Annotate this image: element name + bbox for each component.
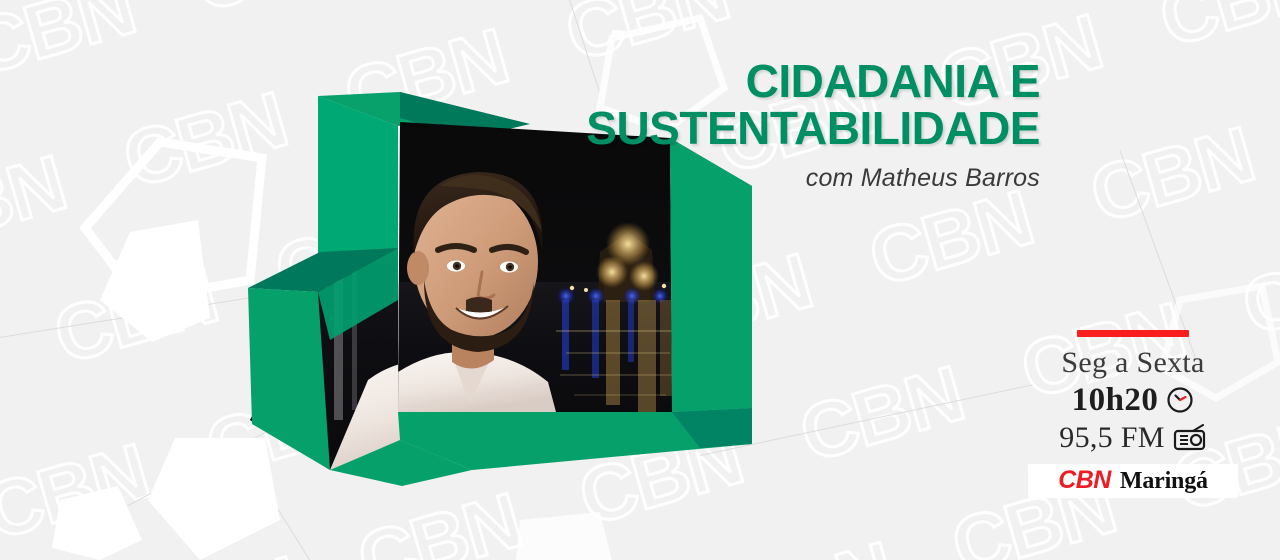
watermark-cbn: CBN — [156, 324, 418, 532]
photo-panel-lower — [240, 240, 490, 480]
watermark-cbn: CBN — [529, 373, 791, 560]
broadcast-time: 10h20 — [1072, 382, 1159, 419]
cube-tail — [330, 440, 472, 486]
watermark-cbn: CBN — [460, 549, 722, 560]
watermark-cbn: CBN — [598, 197, 860, 405]
broadcast-days: Seg a Sexta — [1028, 346, 1238, 380]
cube2-face-bottom — [318, 248, 398, 340]
watermark-cbn: CBN — [736, 0, 998, 53]
watermark-cbn: CBN — [1275, 471, 1280, 560]
station-city-name: Maringá — [1120, 468, 1208, 495]
watermark-cbn: CBN — [0, 0, 184, 131]
watermark-cbn: CBN — [1054, 535, 1280, 560]
watermark-cbn: CBN — [364, 0, 626, 4]
radio-program-banner: CBNCBNCBNCBNCBNCBNCBNCBNCBNCBNCBNCBNCBNC… — [0, 0, 1280, 560]
accent-line — [1120, 150, 1196, 357]
broadcast-time-row: 10h20 — [1028, 382, 1238, 419]
clock-icon — [1166, 386, 1194, 414]
watermark-cbn: CBN — [750, 310, 1012, 518]
program-title-block: CIDADANIA E SUSTENTABILIDADE com Matheus… — [340, 58, 1040, 193]
schedule-block: Seg a Sexta 10h20 95,5 FM CBN Maringá — [1028, 330, 1238, 498]
watermark-cbn: CBN — [4, 212, 266, 420]
broadcast-frequency: 95,5 FM — [1059, 421, 1164, 455]
broadcast-frequency-row: 95,5 FM — [1028, 421, 1238, 455]
accent-line — [700, 384, 1033, 456]
accent-line — [100, 398, 330, 521]
watermark-cbn: CBN — [1040, 71, 1280, 279]
cube-face-bottom-dark — [672, 408, 752, 448]
cube2-face-top — [248, 248, 398, 292]
watermark-cbn: CBN — [87, 500, 349, 560]
watermark-cbn: CBN — [0, 388, 197, 560]
watermark-cbn: CBN — [1261, 7, 1280, 215]
station-logo: CBN Maringá — [1028, 464, 1238, 498]
red-divider-rule — [1077, 330, 1189, 337]
radio-icon — [1173, 424, 1207, 452]
watermark-cbn: CBN — [0, 275, 45, 483]
program-host-subtitle: com Matheus Barros — [340, 164, 1040, 193]
watermark-cbn: CBN — [308, 437, 570, 560]
watermark-cbn: CBN — [73, 36, 335, 244]
accent-line — [260, 480, 367, 560]
program-title-line2: SUSTENTABILIDADE — [340, 105, 1040, 152]
cbn-logo-text: CBN — [1058, 466, 1111, 495]
cube-face-bottom — [398, 408, 752, 470]
cube2-face-left — [248, 288, 330, 470]
watermark-cbn: CBN — [681, 486, 943, 560]
watermark-cbn: CBN — [1109, 0, 1280, 102]
watermark-cbn: CBN — [0, 99, 115, 307]
watermark-cbn: CBN — [377, 261, 639, 469]
accent-line — [0, 288, 306, 341]
program-title-line1: CIDADANIA E — [340, 58, 1040, 105]
